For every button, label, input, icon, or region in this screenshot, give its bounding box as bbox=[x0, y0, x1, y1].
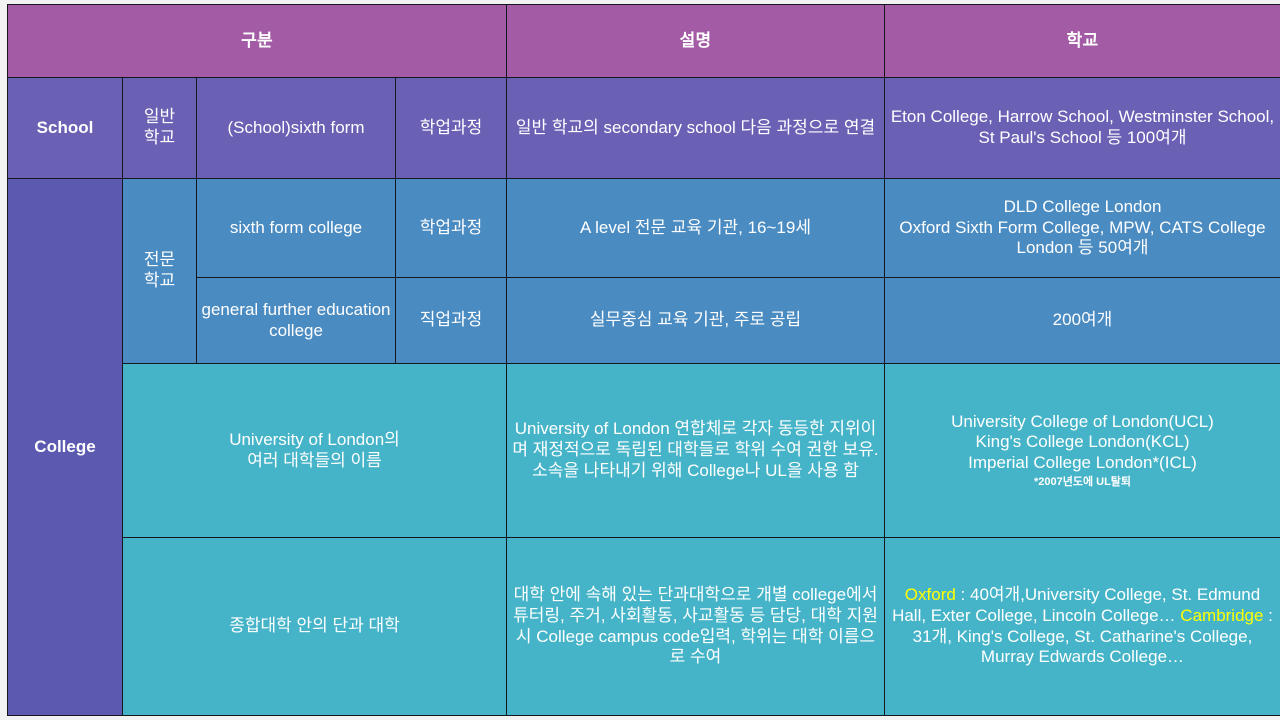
college-description-further-education: 실무중심 교육 기관, 주로 공립 bbox=[507, 278, 885, 364]
school-type-general: 일반학교 bbox=[123, 78, 197, 179]
group-label-college: College bbox=[8, 179, 123, 716]
icl-footnote: *2007년도에 UL탈퇴 bbox=[889, 475, 1276, 489]
header-cell-description: 설명 bbox=[507, 5, 885, 78]
school-name-sixth-form: (School)sixth form bbox=[197, 78, 396, 179]
college-examples-constituent: Oxford : 40여개,University College, St. Ed… bbox=[885, 538, 1280, 716]
college-course-vocational: 직업과정 bbox=[396, 278, 507, 364]
college-description-university-of-london: University of London 연합체로 각자 동등한 지위이며 재정… bbox=[507, 364, 885, 538]
table-row-constituent-college: 종합대학 안의 단과 대학 대학 안에 속해 있는 단과대학으로 개별 coll… bbox=[8, 538, 1280, 716]
college-description-constituent: 대학 안에 속해 있는 단과대학으로 개별 college에서 튜터링, 주거,… bbox=[507, 538, 885, 716]
oxford-label: Oxford bbox=[905, 585, 956, 604]
college-name-further-education: general further education college bbox=[197, 278, 396, 364]
slide-canvas: 구분 설명 학교 School 일반학교 (School)sixth form … bbox=[0, 0, 1280, 720]
header-cell-school: 학교 bbox=[885, 5, 1280, 78]
table-row-sixth-form-college: College 전문학교 sixth form college 학업과정 A l… bbox=[8, 179, 1280, 278]
ucl-kcl-icl-list: University College of London(UCL)King's … bbox=[951, 412, 1214, 472]
cambridge-label: Cambridge bbox=[1180, 606, 1263, 625]
header-cell-category: 구분 bbox=[8, 5, 507, 78]
college-name-university-of-london: University of London의여러 대학들의 이름 bbox=[123, 364, 507, 538]
group-label-school: School bbox=[8, 78, 123, 179]
college-type-specialized: 전문학교 bbox=[123, 179, 197, 364]
college-description-sixth-form: A level 전문 교육 기관, 16~19세 bbox=[507, 179, 885, 278]
school-course-academic: 학업과정 bbox=[396, 78, 507, 179]
college-examples-further-education: 200여개 bbox=[885, 278, 1280, 364]
college-examples-sixth-form: DLD College LondonOxford Sixth Form Coll… bbox=[885, 179, 1280, 278]
table-row-university-of-london: University of London의여러 대학들의 이름 Universi… bbox=[8, 364, 1280, 538]
table-row-further-education-college: general further education college 직업과정 실… bbox=[8, 278, 1280, 364]
college-name-constituent: 종합대학 안의 단과 대학 bbox=[123, 538, 507, 716]
table-row-school-sixth-form: School 일반학교 (School)sixth form 학업과정 일반 학… bbox=[8, 78, 1280, 179]
table-header-row: 구분 설명 학교 bbox=[8, 5, 1280, 78]
college-name-sixth-form: sixth form college bbox=[197, 179, 396, 278]
college-course-academic: 학업과정 bbox=[396, 179, 507, 278]
school-examples: Eton College, Harrow School, Westminster… bbox=[885, 78, 1280, 179]
education-comparison-table: 구분 설명 학교 School 일반학교 (School)sixth form … bbox=[7, 4, 1280, 716]
school-description: 일반 학교의 secondary school 다음 과정으로 연결 bbox=[507, 78, 885, 179]
college-examples-university-of-london: University College of London(UCL)King's … bbox=[885, 364, 1280, 538]
